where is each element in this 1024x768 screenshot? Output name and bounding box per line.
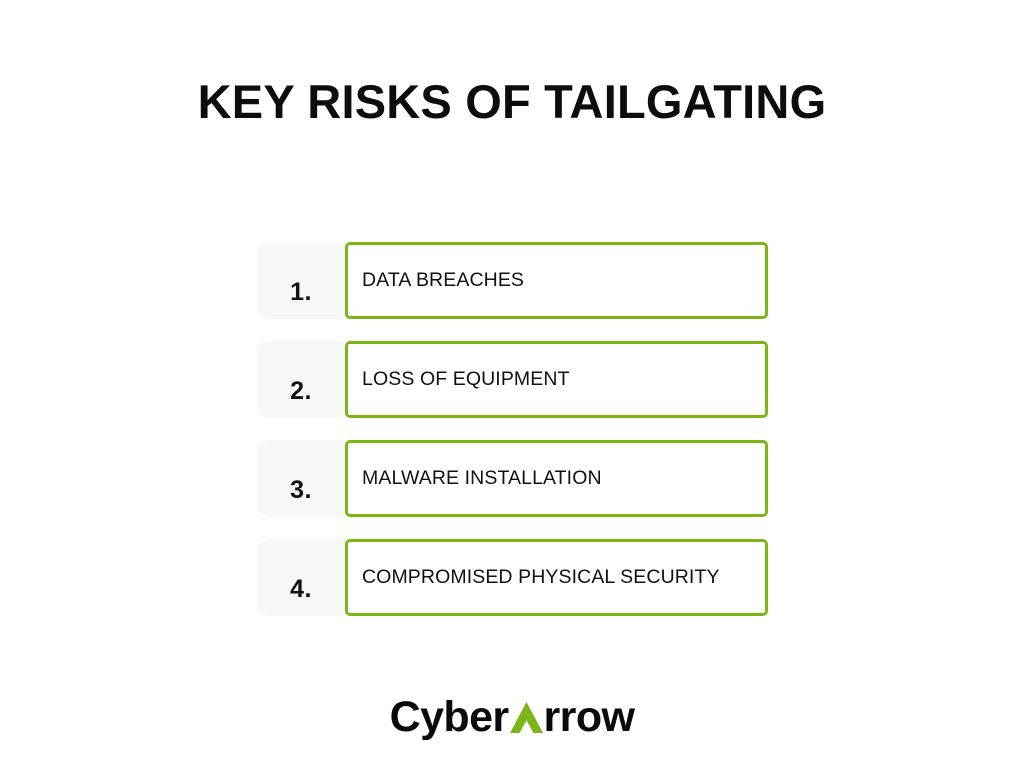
list-item-label: COMPROMISED PHYSICAL SECURITY — [362, 565, 720, 590]
logo-text-prefix: Cyber — [390, 694, 509, 740]
list-item-number: 3. — [290, 478, 312, 503]
list-item-label-box[interactable]: LOSS OF EQUIPMENT — [345, 341, 768, 418]
list-item[interactable]: 2. LOSS OF EQUIPMENT — [257, 341, 768, 418]
list-item-number-block: 4. — [257, 539, 345, 616]
list-item-number: 1. — [290, 280, 312, 305]
list-item-number: 2. — [290, 379, 312, 404]
list-item-label: LOSS OF EQUIPMENT — [362, 367, 570, 392]
list-item-label-box[interactable]: MALWARE INSTALLATION — [345, 440, 768, 517]
list-item-number-block: 2. — [257, 341, 345, 418]
list-item[interactable]: 4. COMPROMISED PHYSICAL SECURITY — [257, 539, 768, 616]
green-arrow-a-icon — [510, 702, 543, 733]
list-item-label: DATA BREACHES — [362, 268, 524, 293]
list-item-label: MALWARE INSTALLATION — [362, 466, 602, 491]
list-item[interactable]: 1. DATA BREACHES — [257, 242, 768, 319]
list-item-number-block: 1. — [257, 242, 345, 319]
cyberarrow-logo: Cyberrrow — [0, 694, 1024, 740]
list-item[interactable]: 3. MALWARE INSTALLATION — [257, 440, 768, 517]
list-item-number: 4. — [290, 577, 312, 602]
logo-text-suffix: rrow — [544, 694, 635, 740]
list-item-label-box[interactable]: DATA BREACHES — [345, 242, 768, 319]
list-item-label-box[interactable]: COMPROMISED PHYSICAL SECURITY — [345, 539, 768, 616]
list-item-number-block: 3. — [257, 440, 345, 517]
slide-canvas: KEY RISKS OF TAILGATING 1. DATA BREACHES… — [0, 0, 1024, 768]
risk-list: 1. DATA BREACHES 2. LOSS OF EQUIPMENT 3.… — [257, 242, 768, 616]
page-title: KEY RISKS OF TAILGATING — [0, 72, 1024, 132]
